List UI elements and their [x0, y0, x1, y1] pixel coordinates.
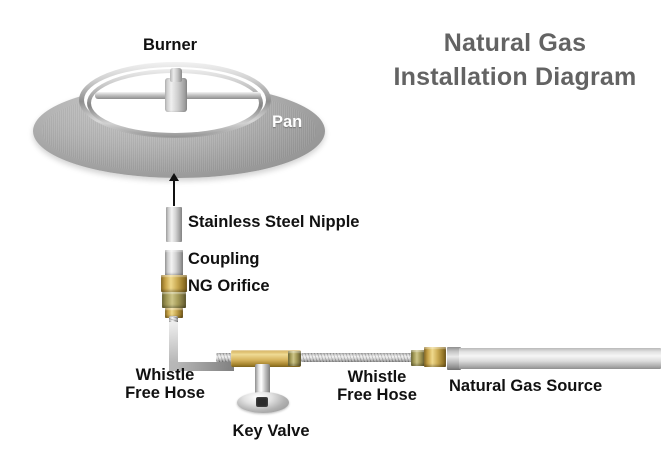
burner-hub — [165, 78, 187, 112]
valve-nut-right — [288, 351, 301, 366]
label-key-valve: Key Valve — [216, 422, 326, 440]
label-stainless-steel-nipple: Stainless Steel Nipple — [188, 213, 359, 231]
whistle-free-hose-left-elbow — [169, 322, 234, 371]
label-burner: Burner — [143, 36, 197, 54]
stainless-steel-nipple-part — [166, 207, 182, 242]
whistle-free-hose-right-part — [301, 353, 413, 362]
label-natural-gas-source: Natural Gas Source — [449, 377, 602, 395]
title-line-2: Installation Diagram — [380, 60, 650, 94]
natural-gas-source-pipe — [459, 348, 661, 369]
ng-orifice-part — [161, 275, 187, 292]
hose-nut-right — [411, 350, 425, 366]
label-coupling: Coupling — [188, 250, 259, 268]
label-pan: Pan — [272, 113, 302, 131]
gas-source-union-fitting — [424, 347, 446, 367]
burner-hub-cap — [170, 68, 182, 82]
gas-flow-arrow-icon — [173, 180, 175, 206]
burner-assembly — [79, 62, 275, 148]
key-valve-socket — [256, 397, 268, 407]
page-title: Natural Gas Installation Diagram — [380, 26, 650, 94]
burner-spoke-right — [183, 92, 261, 99]
title-line-1: Natural Gas — [380, 26, 650, 60]
label-whistle-free-hose-right: Whistle Free Hose — [329, 368, 425, 404]
burner-spoke-left — [95, 92, 175, 99]
olive-fitting-upper — [162, 292, 186, 308]
coupling-part — [165, 250, 183, 276]
diagram-canvas: Natural Gas Installation Diagram Burner … — [0, 0, 661, 472]
label-whistle-free-hose-left: Whistle Free Hose — [119, 366, 211, 402]
label-ng-orifice: NG Orifice — [188, 277, 270, 295]
